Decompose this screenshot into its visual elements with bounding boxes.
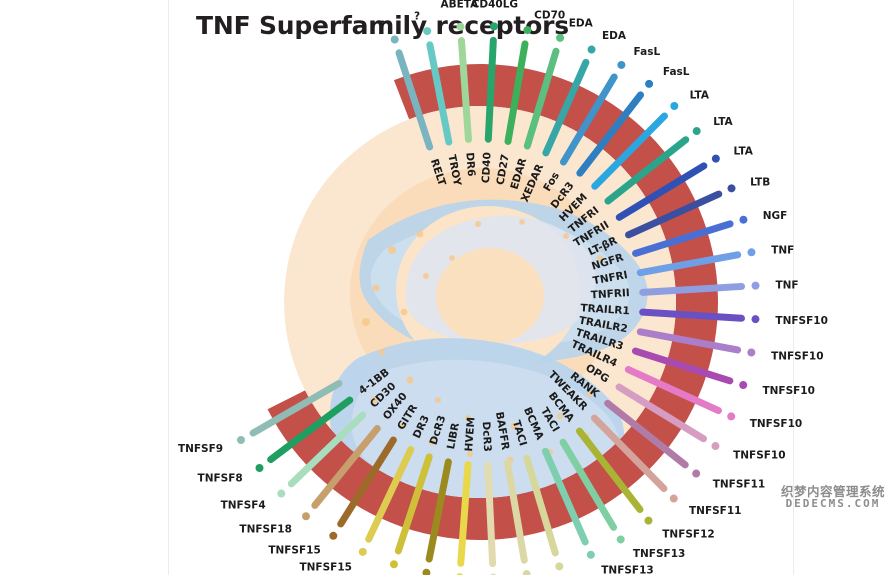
ligand-label: CD70	[534, 9, 565, 21]
ligand-dot	[712, 155, 720, 163]
ligand-label: NGF	[763, 210, 788, 222]
ligand-label: TNFSF10	[771, 350, 823, 362]
ligand-dot	[391, 36, 399, 44]
ligand-dot	[645, 80, 653, 88]
ligand-label: TNFSF10	[750, 418, 802, 430]
ligand-dot	[747, 348, 755, 356]
ligand-label: EDA	[602, 30, 627, 42]
ligand-label: TNFSF4	[221, 500, 266, 512]
ligand-label: TNFSF10	[733, 449, 785, 461]
ligand-label: FasL	[663, 66, 690, 78]
ligand-label: TNFSF13	[601, 564, 653, 575]
ligand-label: TNFSF13	[633, 548, 685, 560]
ligand-dot	[523, 26, 531, 34]
spoke-bar	[488, 465, 493, 564]
ligand-dot	[277, 490, 285, 498]
ligand-dot	[587, 551, 595, 559]
ligand-dot	[728, 184, 736, 192]
ligand-label: LTA	[713, 116, 733, 128]
ligand-dot	[523, 570, 531, 575]
ligand-label: LTA	[734, 145, 754, 157]
ligand-label: TNFSF10	[762, 385, 814, 397]
ligand-label: TNFSF10	[775, 315, 827, 327]
receptor-label: HVEM	[463, 417, 478, 452]
ligand-dot	[670, 495, 678, 503]
ligand-label: TNFSF15	[268, 544, 320, 556]
ligand-dot	[422, 569, 430, 575]
ligand-label: CD40LG	[472, 0, 518, 10]
ligand-dot	[670, 102, 678, 110]
ligand-dot	[556, 34, 564, 42]
ligand-dot	[237, 436, 245, 444]
ligand-label: ?	[414, 10, 420, 22]
ligand-dot	[751, 315, 759, 323]
ligand-dot	[727, 412, 735, 420]
ligand-label: ?	[380, 19, 386, 31]
ligand-dot	[490, 22, 498, 30]
ligand-dot	[693, 127, 701, 135]
ligand-label: TNFSF18	[239, 524, 291, 536]
ligand-label: TNFSF11	[689, 505, 741, 517]
ligand-dot	[617, 535, 625, 543]
ligand-dot	[423, 27, 431, 35]
ligand-label: LTB	[750, 177, 770, 189]
watermark: 织梦内容管理系统 DEDECMS.COM	[779, 485, 887, 510]
receptor-label: TNFRII	[590, 287, 630, 301]
ligand-dot	[302, 512, 310, 520]
ligand-dot	[644, 517, 652, 525]
ligand-label: LTA	[690, 90, 710, 102]
ligand-dot	[739, 381, 747, 389]
receptor-label: DcR3	[480, 421, 493, 452]
ligand-label: TNFSF9	[178, 443, 223, 455]
ligand-dot	[617, 61, 625, 69]
ligand-label: FasL	[634, 46, 661, 58]
ligand-dot	[256, 464, 264, 472]
ligand-dot	[739, 216, 747, 224]
ligand-dot	[456, 23, 464, 31]
ligand-label: TNFSF12	[662, 528, 714, 540]
ligand-dot	[359, 548, 367, 556]
page-left-rule	[168, 0, 169, 575]
receptor-label: CD40	[480, 152, 494, 184]
ligand-dot	[747, 248, 755, 256]
figure-page: TNF Superfamily receptors	[0, 0, 893, 575]
ligand-dot	[329, 532, 337, 540]
radial-receptor-diagram: RELTTROYDR6CD40CD27EDARXEDARFosDcR3HVEMT…	[170, 44, 790, 569]
ligand-dot	[752, 282, 760, 290]
ligand-dot	[390, 560, 398, 568]
ligand-label: TNFSF8	[198, 473, 243, 485]
ligand-dot	[692, 470, 700, 478]
ligand-label: TNFSF15	[299, 561, 351, 573]
diagram-canvas: RELTTROYDR6CD40CD27EDARXEDARFosDcR3HVEMT…	[170, 44, 790, 569]
ligand-dot	[588, 46, 596, 54]
ligand-label: TNF	[771, 244, 794, 256]
receptor-label: DR6	[463, 152, 477, 177]
ligand-label: TNF	[775, 280, 798, 292]
ligand-dot	[555, 562, 563, 570]
ligand-dot	[711, 442, 719, 450]
watermark-en: DEDECMS.COM	[779, 498, 887, 510]
ligand-label: EDA	[569, 18, 594, 30]
ligand-label: TNFSF11	[713, 479, 765, 491]
